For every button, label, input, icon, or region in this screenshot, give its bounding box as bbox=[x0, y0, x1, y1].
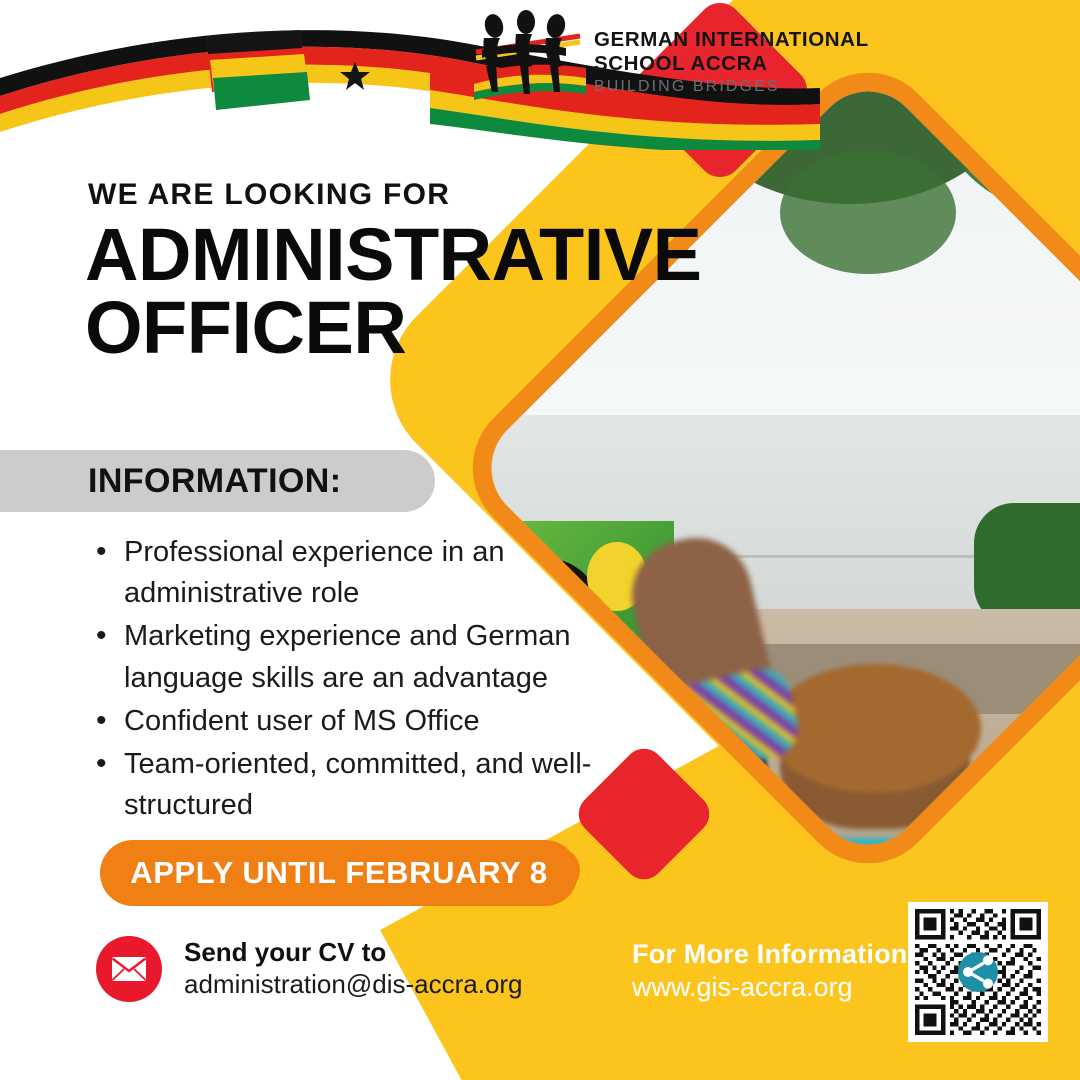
apply-deadline-button[interactable]: APPLY UNTIL FEBRUARY 8 bbox=[100, 840, 578, 906]
logo-line-2: SCHOOL ACCRA bbox=[594, 52, 869, 76]
more-information-label: For More Information bbox=[632, 938, 908, 971]
share-icon bbox=[958, 952, 998, 992]
eyebrow-text: WE ARE LOOKING FOR bbox=[88, 178, 450, 212]
list-item: Marketing experience and German language… bbox=[92, 616, 612, 698]
job-posting-poster: GERMAN INTERNATIONAL SCHOOL ACCRA BUILDI… bbox=[0, 0, 1080, 1080]
list-item: Team-oriented, committed, and well-struc… bbox=[92, 744, 612, 826]
more-information-block: For More Information www.gis-accra.org bbox=[632, 938, 908, 1005]
list-item: Professional experience in an administra… bbox=[92, 532, 612, 614]
logo-line-1: GERMAN INTERNATIONAL bbox=[594, 28, 869, 52]
contact-label: Send your CV to bbox=[184, 937, 523, 969]
contact-email[interactable]: administration@dis-accra.org bbox=[184, 969, 523, 1001]
information-heading-pill: INFORMATION: bbox=[0, 450, 435, 512]
website-url[interactable]: www.gis-accra.org bbox=[632, 971, 908, 1004]
page-title: ADMINISTRATIVE OFFICER bbox=[85, 218, 705, 365]
envelope-icon bbox=[96, 936, 162, 1002]
contact-block: Send your CV to administration@dis-accra… bbox=[96, 936, 523, 1002]
qr-code[interactable] bbox=[908, 902, 1048, 1042]
logo-tagline: BUILDING BRIDGES bbox=[594, 77, 869, 98]
three-figures-logo-icon bbox=[468, 6, 588, 102]
information-heading-label: INFORMATION: bbox=[88, 462, 341, 501]
list-item: Confident user of MS Office bbox=[92, 701, 612, 742]
school-logo: GERMAN INTERNATIONAL SCHOOL ACCRA BUILDI… bbox=[468, 6, 869, 102]
requirements-list: Professional experience in an administra… bbox=[92, 532, 612, 828]
